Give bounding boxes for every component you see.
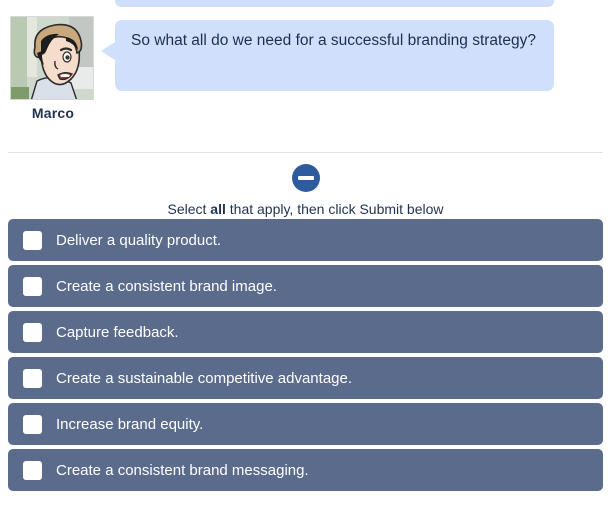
instructions-text: Select all that apply, then click Submit… [0, 200, 611, 218]
chat-area: Marco So what all do we need for a succe… [0, 0, 611, 152]
answer-option-row[interactable]: Create a sustainable competitive advanta… [8, 357, 603, 399]
answer-option-label: Create a consistent brand messaging. [56, 461, 309, 480]
message-bubble: So what all do we need for a successful … [115, 20, 554, 91]
message-text: So what all do we need for a successful … [131, 30, 540, 51]
answer-option-row[interactable]: Create a consistent brand image. [8, 265, 603, 307]
answer-option-checkbox[interactable] [23, 415, 42, 434]
answer-option-row[interactable]: Create a consistent brand messaging. [8, 449, 603, 491]
answer-option-row[interactable]: Capture feedback. [8, 311, 603, 353]
avatar [10, 16, 94, 100]
answer-option-label: Deliver a quality product. [56, 231, 221, 250]
bubble-tail-icon [101, 42, 115, 60]
minus-circle-icon[interactable] [292, 164, 320, 192]
answer-option-checkbox[interactable] [23, 231, 42, 250]
male-cartoon-avatar-icon [11, 17, 94, 100]
instructions-emphasis: all [210, 201, 226, 217]
answer-options-list: Deliver a quality product.Create a consi… [8, 219, 603, 495]
answer-option-label: Increase brand equity. [56, 415, 203, 434]
section-divider [8, 152, 603, 153]
instructions-suffix: that apply, then click Submit below [226, 201, 444, 217]
answer-option-checkbox[interactable] [23, 277, 42, 296]
answer-option-row[interactable]: Increase brand equity. [8, 403, 603, 445]
answer-option-checkbox[interactable] [23, 323, 42, 342]
previous-message-bubble-partial [115, 0, 554, 7]
instructions-prefix: Select [167, 201, 210, 217]
collapse-control-wrapper [0, 164, 611, 192]
answer-option-row[interactable]: Deliver a quality product. [8, 219, 603, 261]
speaker-name: Marco [10, 104, 96, 122]
answer-option-checkbox[interactable] [23, 461, 42, 480]
answer-option-label: Create a sustainable competitive advanta… [56, 369, 352, 388]
speaker-block: Marco [10, 16, 96, 122]
answer-option-label: Create a consistent brand image. [56, 277, 277, 296]
answer-option-label: Capture feedback. [56, 323, 179, 342]
answer-option-checkbox[interactable] [23, 369, 42, 388]
